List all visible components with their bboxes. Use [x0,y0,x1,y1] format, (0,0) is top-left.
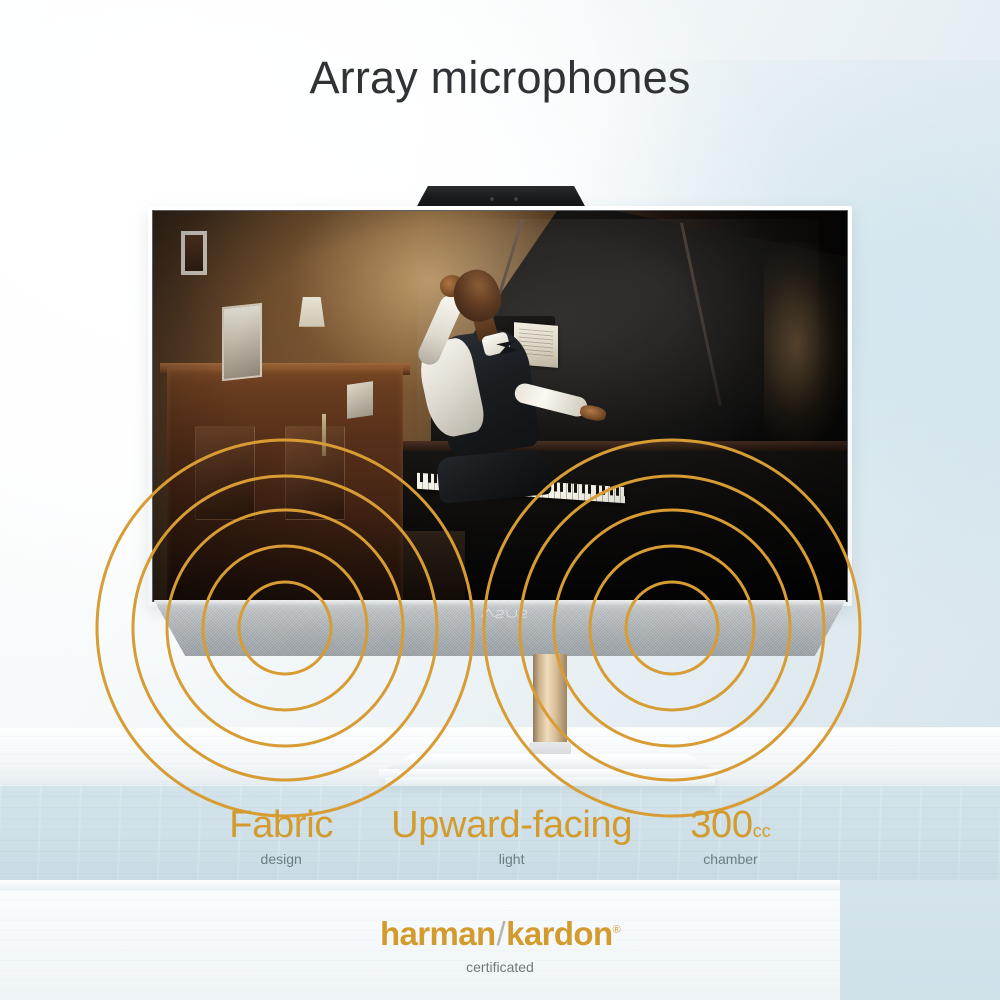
screen [152,210,848,602]
shelf-lower-edge [0,880,840,890]
scene-vignette [153,211,847,601]
feature-item-upward-facing: Upward-facing light [391,806,632,867]
product-feature-image: Array microphones [0,0,1000,1000]
feature-title: 300cc [690,806,771,844]
feature-unit: cc [753,821,771,841]
feature-subtitle: chamber [690,851,771,867]
feature-item-chamber: 300cc chamber [690,806,771,867]
feature-subtitle: design [229,851,333,867]
brand-name-first: harman [380,915,496,952]
microphone-hole-icon [514,197,518,201]
monitor-base-bottom [385,777,715,786]
monitor-base-top [385,754,715,770]
harman-kardon-logo: harman/kardon® [0,917,1000,950]
all-in-one-monitor [148,186,852,786]
display-panel [148,206,852,606]
registered-trademark-icon: ® [613,924,621,936]
camera-lens-icon [490,197,494,201]
feature-title: Fabric [229,806,333,844]
brand-block: harman/kardon® certificated [0,917,1000,975]
feature-item-fabric: Fabric design [229,806,333,867]
golden-stand-column [533,654,567,754]
page-title: Array microphones [0,52,1000,104]
brand-name-second: kardon [506,915,612,952]
feature-subtitle: light [391,851,632,867]
asus-logo [480,606,536,620]
brand-subtitle: certificated [0,959,1000,975]
webcam-module [416,186,586,208]
feature-list: Fabric design Upward-facing light 300cc … [0,806,1000,867]
feature-title: Upward-facing [391,806,632,844]
brand-slash: / [496,915,507,952]
